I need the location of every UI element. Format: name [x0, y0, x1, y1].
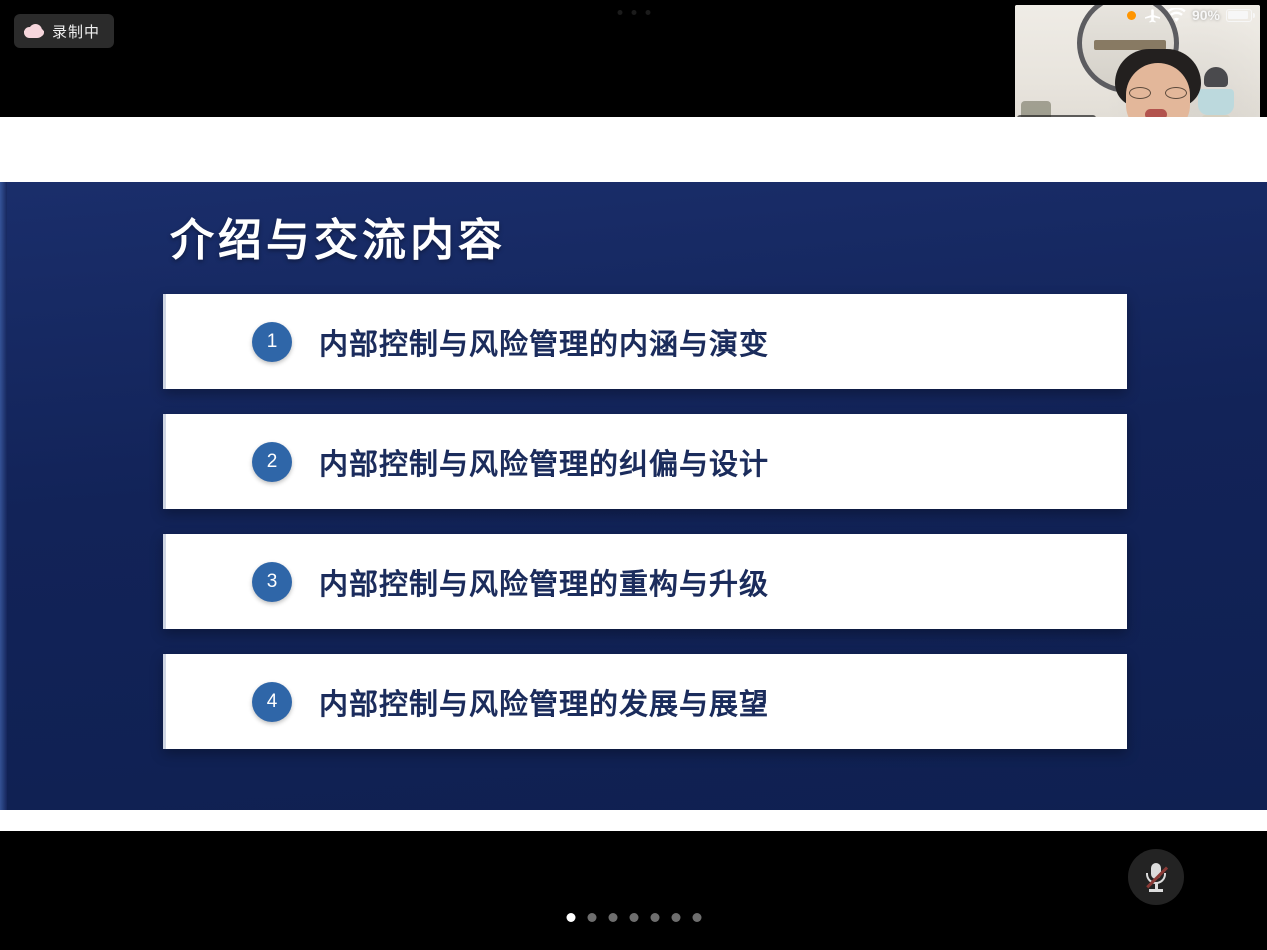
microphone-muted-icon	[1145, 862, 1167, 892]
agenda-item-label: 内部控制与风险管理的重构与升级	[319, 561, 769, 603]
airplane-mode-icon	[1144, 8, 1161, 23]
battery-percent-label: 90%	[1192, 7, 1220, 23]
agenda-item-1[interactable]: 1 内部控制与风险管理的内涵与演变	[163, 294, 1127, 389]
recording-label: 录制中	[52, 21, 100, 42]
agenda-number-badge: 2	[252, 442, 292, 482]
agenda-number-badge: 4	[252, 682, 292, 722]
recording-indicator-dot	[1127, 11, 1136, 20]
wifi-icon	[1167, 8, 1186, 23]
agenda-item-label: 内部控制与风险管理的内涵与演变	[319, 321, 769, 363]
top-indicator-dots	[617, 10, 650, 15]
agenda-item-label: 内部控制与风险管理的发展与展望	[319, 681, 769, 723]
recording-badge: 录制中	[14, 14, 114, 48]
agenda-item-label: 内部控制与风险管理的纠偏与设计	[319, 441, 769, 483]
letterbox-strip-top	[0, 117, 1267, 182]
battery-icon	[1226, 9, 1252, 22]
agenda-number-badge: 3	[252, 562, 292, 602]
agenda-item-4[interactable]: 4 内部控制与风险管理的发展与展望	[163, 654, 1127, 749]
letterbox-strip-bottom	[0, 810, 1267, 831]
slide-page-dots[interactable]	[566, 913, 701, 922]
shared-slide[interactable]: 介绍与交流内容 1 内部控制与风险管理的内涵与演变 2 内部控制与风险管理的纠偏…	[0, 182, 1267, 810]
agenda-number-badge: 1	[252, 322, 292, 362]
agenda-item-2[interactable]: 2 内部控制与风险管理的纠偏与设计	[163, 414, 1127, 509]
bottom-toolbar	[0, 831, 1267, 950]
screen-share-viewer: 录制中	[0, 0, 1267, 950]
mute-toggle-button[interactable]	[1128, 849, 1184, 905]
agenda-list: 1 内部控制与风险管理的内涵与演变 2 内部控制与风险管理的纠偏与设计 3 内部…	[163, 294, 1127, 774]
cloud-icon	[24, 24, 44, 38]
agenda-item-3[interactable]: 3 内部控制与风险管理的重构与升级	[163, 534, 1127, 629]
slide-title: 介绍与交流内容	[170, 204, 506, 268]
device-status-bar: 90%	[1117, 5, 1260, 25]
